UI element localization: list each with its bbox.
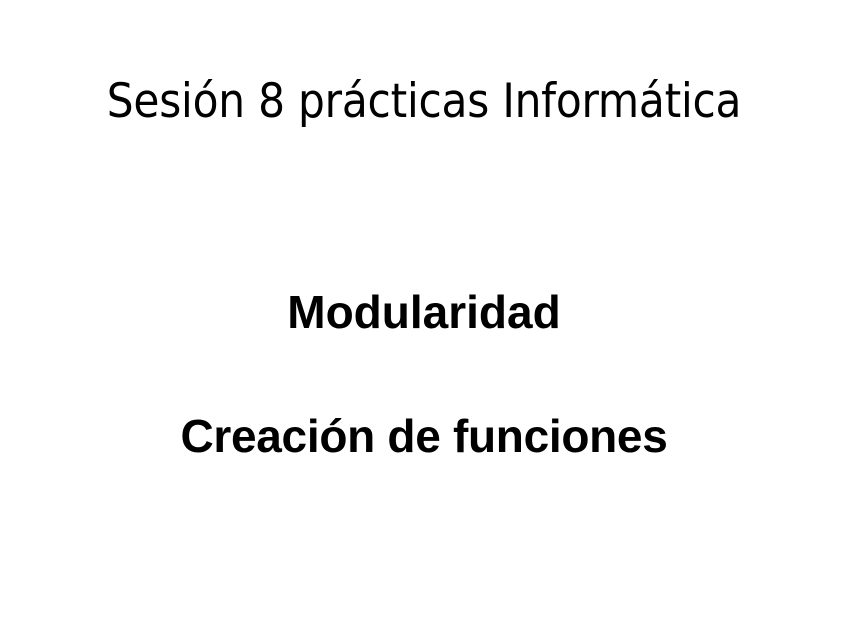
slide-title: Sesión 8 prácticas Informática [0, 76, 848, 128]
slide-body: Modularidad Creación de funciones [0, 288, 848, 460]
slide-canvas: Sesión 8 prácticas Informática Modularid… [0, 0, 848, 636]
body-blank-line [0, 336, 848, 412]
body-heading-creacion-de-funciones: Creación de funciones [0, 412, 848, 460]
body-heading-modularidad: Modularidad [0, 288, 848, 336]
